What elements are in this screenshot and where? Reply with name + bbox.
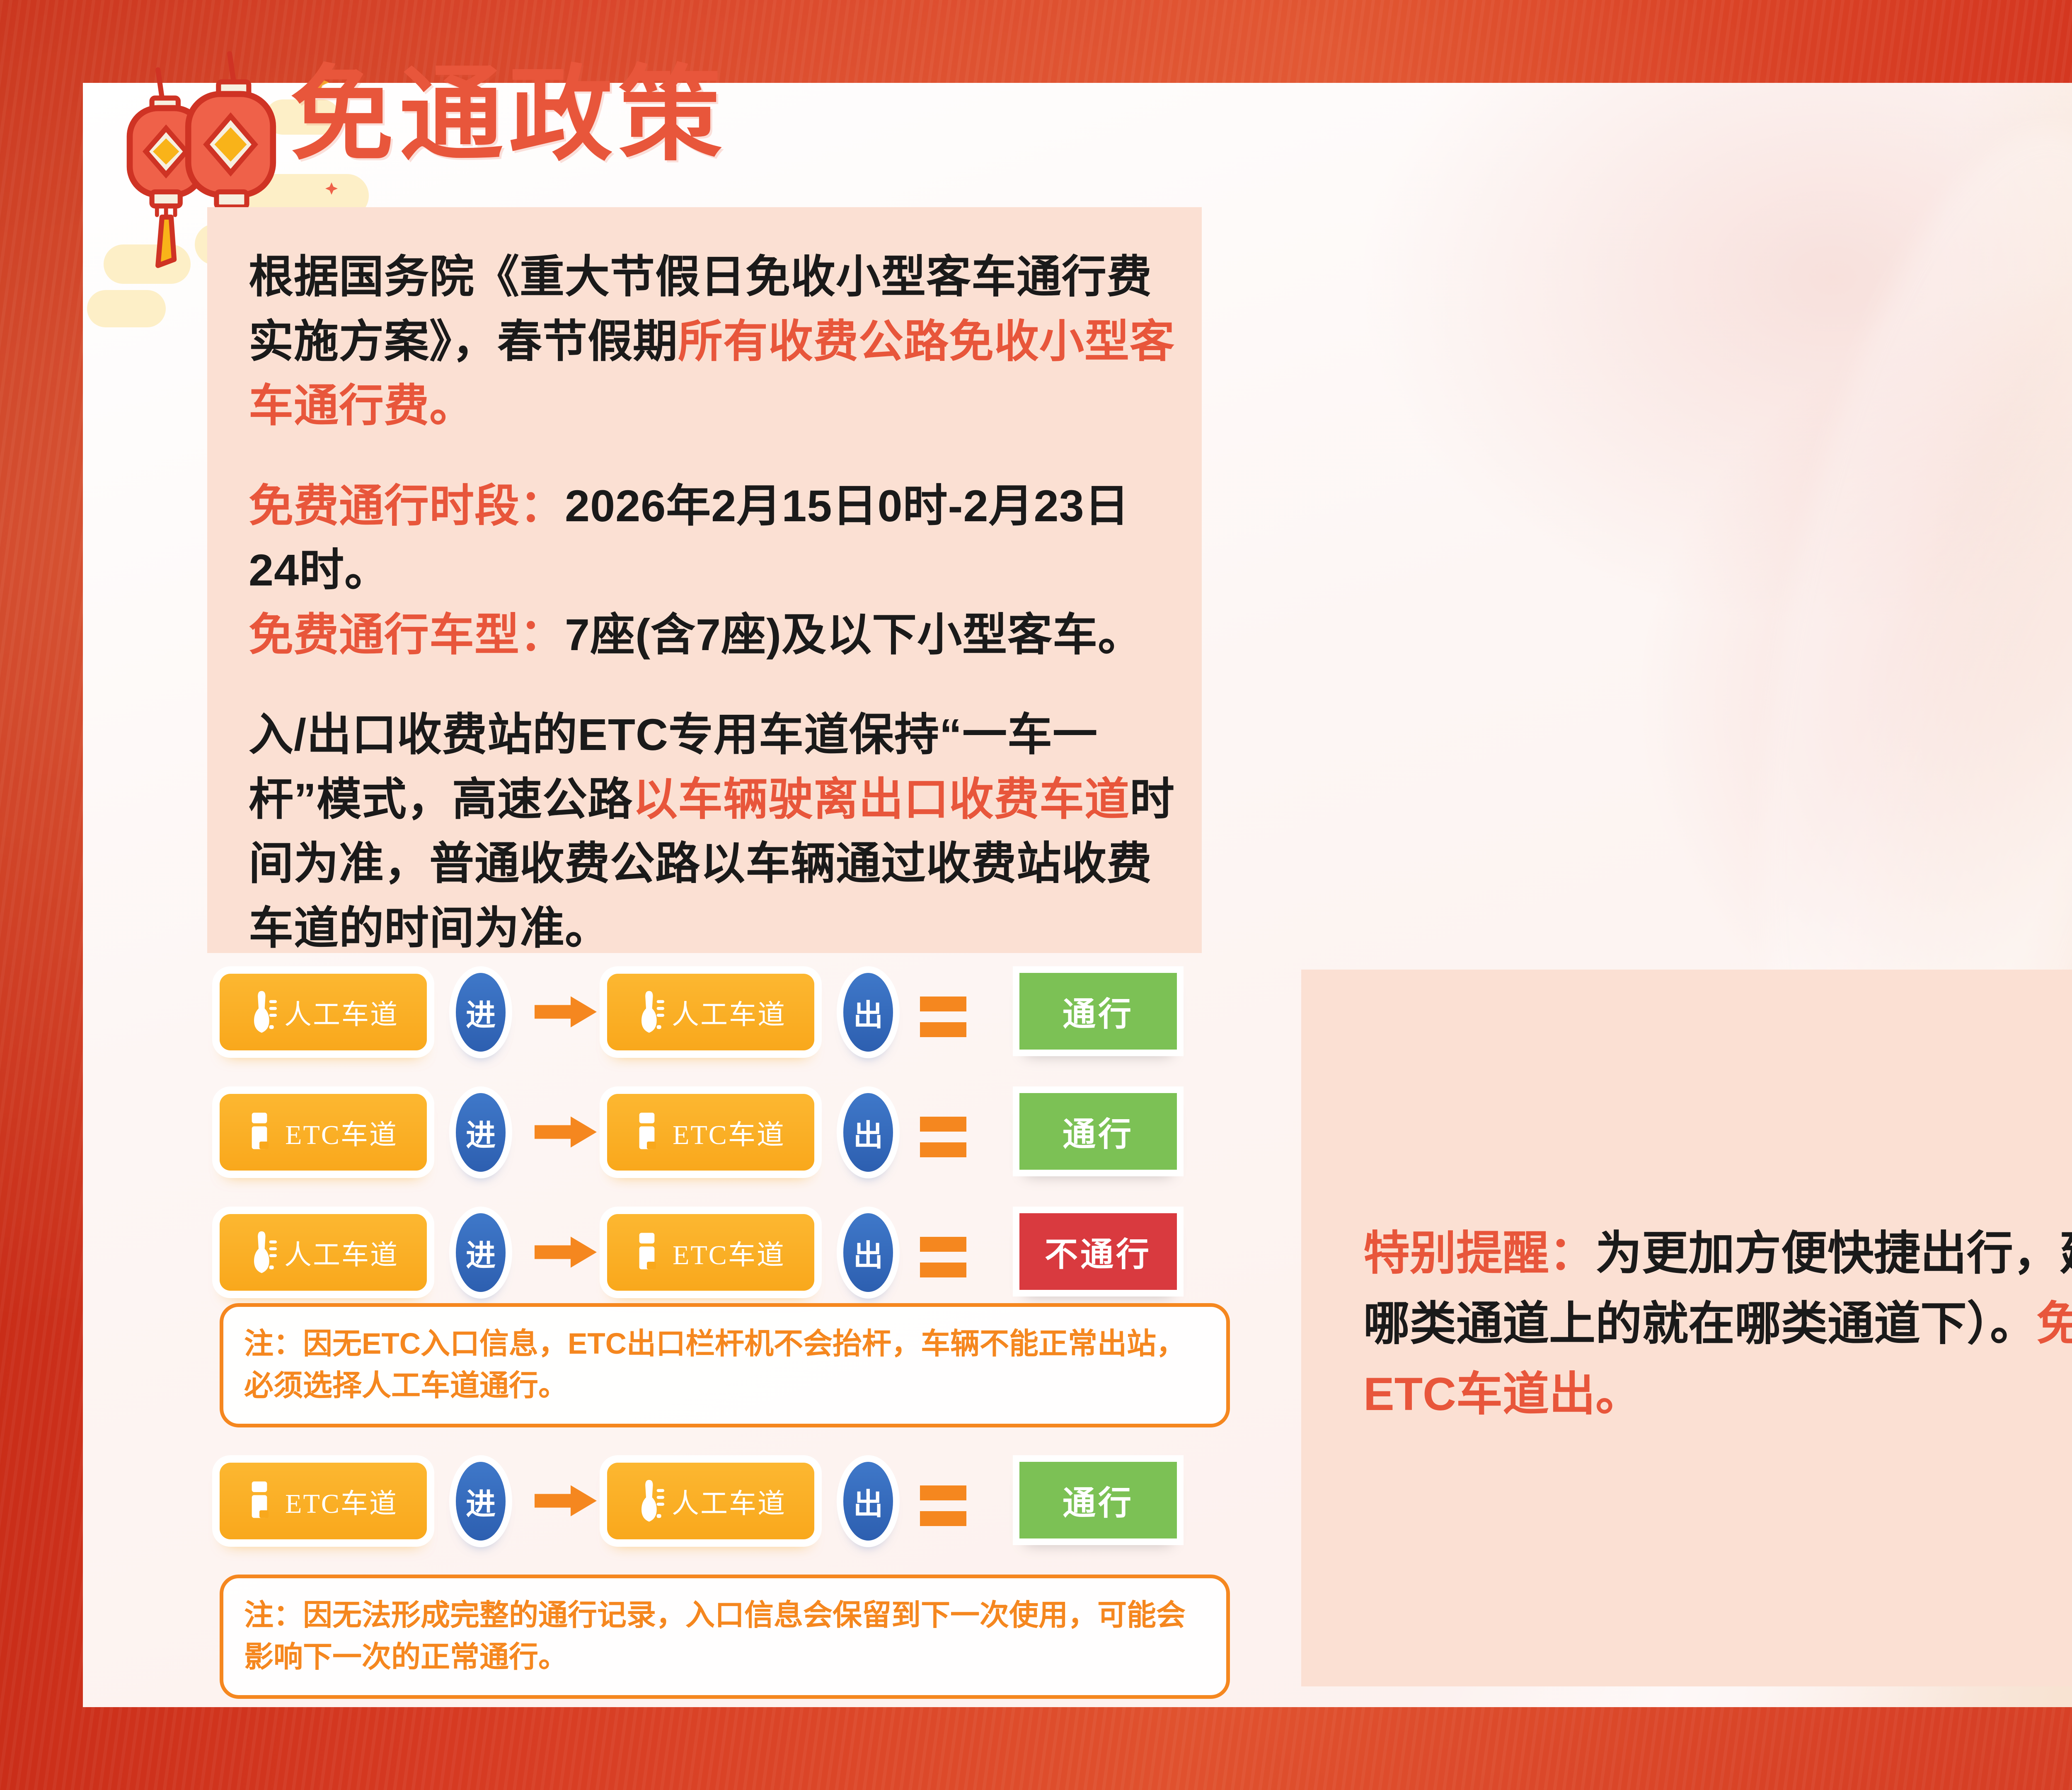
- fact-free-period: 免费通行时段：2026年2月15日0时-2月23日24时。: [249, 474, 1177, 602]
- fact-vehicle-type: 免费通行车型：7座(含7座)及以下小型客车。: [249, 602, 1177, 667]
- car-flow-row: 进高速公路 免费时段: [2031, 439, 2072, 684]
- lane-flow-diagram: 人工车道 进 人工车道 出 通行: [220, 970, 1239, 1330]
- equals-icon: [920, 1117, 966, 1157]
- poster-root: 免通政策 根据国务院《重大节假日免收小型客车通行费实施方案》，春节假期所有收费公…: [0, 0, 2072, 1790]
- enter-marker: 进: [456, 1093, 506, 1172]
- lane-chip-exit[interactable]: 人工车道: [607, 974, 814, 1050]
- person-lane-icon: [248, 1230, 278, 1275]
- intro-line2-plain: 假期: [588, 316, 678, 366]
- lane-chip-entry[interactable]: 人工车道: [220, 974, 427, 1050]
- exit-marker: 出: [843, 1213, 893, 1292]
- policy-text-panel: 根据国务院《重大节假日免收小型客车通行费实施方案》，春节假期所有收费公路免收小型…: [207, 207, 1202, 953]
- car-flow-diagram: 进高速公路 非免费时段: [2031, 195, 2072, 928]
- lane-chip-exit[interactable]: 人工车道: [607, 1463, 814, 1539]
- note-box: 注：因无ETC入口信息，ETC出口栏杆机不会抬杆，车辆不能正常出站，必须选择人工…: [220, 1303, 1230, 1427]
- lane-chip-entry-label: 人工车道: [284, 992, 399, 1032]
- car-entry-block: 进高速公路 非免费时段: [2055, 195, 2072, 416]
- lane-chip-exit-label: ETC车道: [673, 1113, 785, 1152]
- equals-icon: [920, 1485, 966, 1526]
- exit-marker: 出: [843, 973, 893, 1052]
- enter-marker: 进: [456, 1462, 506, 1541]
- page-title: 免通政策: [290, 62, 728, 166]
- reminder-panel: 特别提醒：为更加方便快捷出行，建议各位车主尽量选择同一类型车道（即在哪类通道上的…: [1301, 970, 2072, 1686]
- lane-flow-row: ETC车道 进 ETC车道 出 通行: [220, 1090, 1239, 1210]
- cloud-ornament: [87, 290, 166, 327]
- exit-marker: 出: [843, 1093, 893, 1172]
- fact-free-period-label: 免费通行时段：: [249, 481, 565, 531]
- fact-vehicle-type-value: 7座(含7座)及以下小型客车。: [565, 610, 1143, 660]
- car-flow-row: 进高速公路 免费时段: [2031, 684, 2072, 928]
- lane-result-badge: 通行: [1019, 1093, 1177, 1170]
- etc-device-icon: [249, 1478, 279, 1524]
- enter-marker: 进: [456, 973, 506, 1052]
- arrow-right-icon: [535, 1236, 597, 1269]
- lane-flow-row: ETC车道 进 人工车道 出 通行: [220, 1459, 1239, 1579]
- lane-chip-entry-label: ETC车道: [285, 1113, 398, 1152]
- lane-flow-diagram-second: ETC车道 进 人工车道 出 通行: [220, 1459, 1239, 1579]
- person-lane-icon: [635, 989, 666, 1035]
- lane-result-badge: 通行: [1019, 1462, 1177, 1538]
- person-lane-icon: [248, 989, 278, 1035]
- lane-chip-exit[interactable]: ETC车道: [607, 1214, 814, 1291]
- lane-chip-exit-label: ETC车道: [673, 1233, 785, 1272]
- lane-chip-exit-label: 人工车道: [672, 992, 786, 1032]
- lane-chip-entry[interactable]: ETC车道: [220, 1463, 427, 1539]
- equals-icon: [920, 1237, 966, 1277]
- reminder-body1: 为更加方便快捷出行，建议各位车主尽量选择同一: [1595, 1227, 2072, 1279]
- etc-device-icon: [636, 1110, 667, 1155]
- car-entry-block: 进高速公路 免费时段: [2055, 439, 2072, 660]
- note-box: 注：因无法形成完整的通行记录，入口信息会保留到下一次使用，可能会影响下一次的正常…: [220, 1575, 1230, 1699]
- lane-chip-exit-label: 人工车道: [672, 1481, 786, 1521]
- lane-chip-entry-label: ETC车道: [285, 1481, 398, 1521]
- arrow-right-icon: [535, 1484, 597, 1517]
- exit-marker: 出: [843, 1462, 893, 1541]
- rule-highlight: 以车辆驶离出口收费车道: [633, 774, 1130, 824]
- reminder-label: 特别提醒：: [1363, 1227, 1595, 1279]
- lane-flow-row: 人工车道 进 人工车道 出 通行: [220, 970, 1239, 1090]
- car-entry-label: 进高速公路: [2055, 315, 2072, 359]
- car-entry-block: 进高速公路 免费时段: [2055, 684, 2072, 905]
- etc-device-icon: [249, 1110, 279, 1155]
- car-entry-label: 进高速公路: [2055, 559, 2072, 604]
- intro-paragraph: 根据国务院《重大节假日免收小型客车通行费实施方案》，春节假期所有收费公路免收小型…: [249, 244, 1177, 438]
- arrow-right-icon: [535, 995, 597, 1028]
- enter-marker: 进: [456, 1213, 506, 1292]
- lane-chip-entry-label: 人工车道: [284, 1233, 399, 1272]
- equals-icon: [920, 997, 966, 1037]
- arrow-right-icon: [535, 1115, 597, 1149]
- lane-chip-entry[interactable]: 人工车道: [220, 1214, 427, 1291]
- lane-result-badge: 不通行: [1019, 1213, 1177, 1290]
- lane-chip-exit[interactable]: ETC车道: [607, 1094, 814, 1171]
- reminder-text: 特别提醒：为更加方便快捷出行，建议各位车主尽量选择同一类型车道（即在哪类通道上的…: [1363, 1218, 2072, 1430]
- fact-vehicle-type-label: 免费通行车型：: [249, 610, 565, 660]
- etc-device-icon: [636, 1230, 667, 1275]
- reminder-highlight1: 免费时段: [2036, 1298, 2072, 1350]
- car-flow-row: 进高速公路 非免费时段: [2031, 195, 2072, 439]
- person-lane-icon: [635, 1478, 666, 1524]
- car-entry-label: 进高速公路: [2055, 804, 2072, 848]
- lane-result-badge: 通行: [1019, 973, 1177, 1050]
- rule-paragraph: 入/出口收费站的ETC专用车道保持“一车一杆”模式，高速公路以车辆驶离出口收费车…: [249, 702, 1177, 960]
- lane-chip-entry[interactable]: ETC车道: [220, 1094, 427, 1171]
